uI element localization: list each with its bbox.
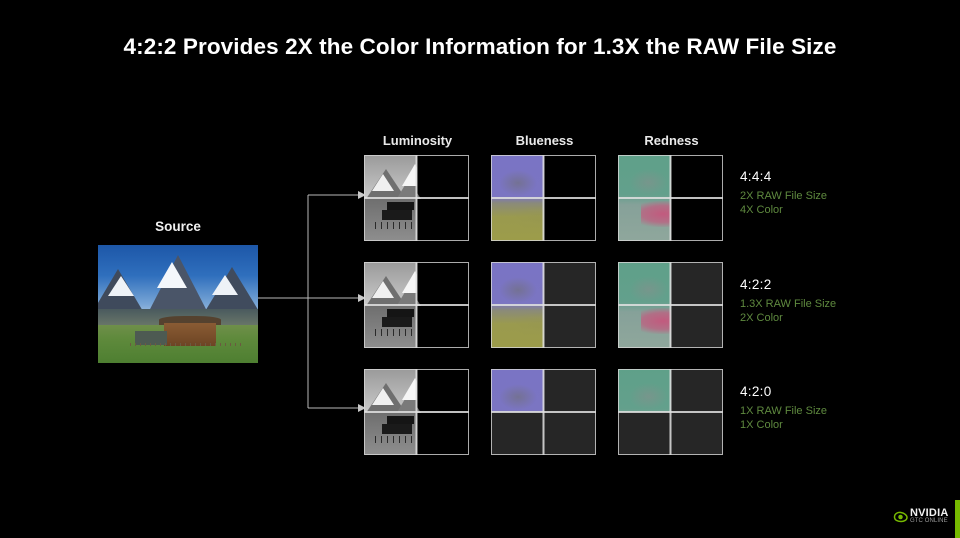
panel-blueness-422 bbox=[491, 262, 596, 348]
row-filesize-420: 1X RAW File Size bbox=[740, 404, 930, 418]
row-filesize-422: 1.3X RAW File Size bbox=[740, 297, 930, 311]
quadrant-tl bbox=[364, 369, 417, 412]
quadrant-tl bbox=[364, 262, 417, 305]
source-snow-right bbox=[212, 275, 238, 295]
quadrant-tl bbox=[618, 262, 671, 305]
quadrant-br bbox=[417, 412, 470, 455]
quadrant-bl bbox=[491, 305, 544, 348]
quadrant-br bbox=[417, 305, 470, 348]
source-snow-center bbox=[157, 262, 187, 288]
quadrant-br-off bbox=[544, 305, 597, 348]
panel-blueness-444 bbox=[491, 155, 596, 241]
quadrant-br bbox=[417, 198, 470, 241]
quadrant-bl bbox=[491, 198, 544, 241]
panel-redness-422 bbox=[618, 262, 723, 348]
quadrant-tr bbox=[417, 262, 470, 305]
row-color-444: 4X Color bbox=[740, 203, 930, 217]
panel-redness-444 bbox=[618, 155, 723, 241]
quadrant-tl bbox=[491, 262, 544, 305]
row-label-422: 4:2:2 1.3X RAW File Size 2X Color bbox=[740, 277, 930, 325]
page-title: 4:2:2 Provides 2X the Color Information … bbox=[0, 34, 960, 60]
source-fence bbox=[130, 343, 242, 347]
column-header-redness: Redness bbox=[619, 133, 724, 148]
branch-arrows bbox=[258, 150, 368, 430]
slide-root: 4:2:2 Provides 2X the Color Information … bbox=[0, 0, 960, 538]
quadrant-br-off bbox=[544, 412, 597, 455]
quadrant-tr bbox=[417, 369, 470, 412]
source-label: Source bbox=[98, 219, 258, 234]
quadrant-tl bbox=[491, 369, 544, 412]
quadrant-tl bbox=[491, 155, 544, 198]
quadrant-bl bbox=[618, 198, 671, 241]
quadrant-tr bbox=[671, 155, 724, 198]
quadrant-tr-off bbox=[544, 369, 597, 412]
panel-luminosity-422 bbox=[364, 262, 469, 348]
row-color-420: 1X Color bbox=[740, 418, 930, 432]
quadrant-br-off bbox=[671, 412, 724, 455]
quadrant-bl-off bbox=[618, 412, 671, 455]
row-label-444: 4:4:4 2X RAW File Size 4X Color bbox=[740, 169, 930, 217]
source-snow-left bbox=[108, 276, 134, 296]
row-filesize-444: 2X RAW File Size bbox=[740, 189, 930, 203]
source-image bbox=[98, 245, 258, 363]
panel-redness-420 bbox=[618, 369, 723, 455]
row-title-444: 4:4:4 bbox=[740, 169, 930, 184]
row-title-420: 4:2:0 bbox=[740, 384, 930, 399]
quadrant-bl bbox=[364, 305, 417, 348]
nvidia-logo: NVIDIA GTC ONLINE bbox=[893, 506, 953, 530]
quadrant-br bbox=[671, 198, 724, 241]
quadrant-bl bbox=[618, 305, 671, 348]
quadrant-tr-off bbox=[544, 262, 597, 305]
row-title-422: 4:2:2 bbox=[740, 277, 930, 292]
column-header-luminosity: Luminosity bbox=[365, 133, 470, 148]
quadrant-bl bbox=[364, 412, 417, 455]
row-color-422: 2X Color bbox=[740, 311, 930, 325]
panel-luminosity-420 bbox=[364, 369, 469, 455]
quadrant-br bbox=[544, 198, 597, 241]
quadrant-tr bbox=[417, 155, 470, 198]
quadrant-tr bbox=[544, 155, 597, 198]
panel-blueness-420 bbox=[491, 369, 596, 455]
brand-accent-bar bbox=[955, 500, 960, 538]
quadrant-tr-off bbox=[671, 369, 724, 412]
quadrant-bl bbox=[364, 198, 417, 241]
quadrant-br-off bbox=[671, 305, 724, 348]
nvidia-sublabel: GTC ONLINE bbox=[910, 518, 948, 524]
quadrant-tr-off bbox=[671, 262, 724, 305]
nvidia-eye-icon bbox=[893, 510, 908, 522]
quadrant-tl bbox=[364, 155, 417, 198]
row-label-420: 4:2:0 1X RAW File Size 1X Color bbox=[740, 384, 930, 432]
quadrant-tl bbox=[618, 369, 671, 412]
quadrant-bl-off bbox=[491, 412, 544, 455]
column-header-blueness: Blueness bbox=[492, 133, 597, 148]
panel-luminosity-444 bbox=[364, 155, 469, 241]
quadrant-tl bbox=[618, 155, 671, 198]
